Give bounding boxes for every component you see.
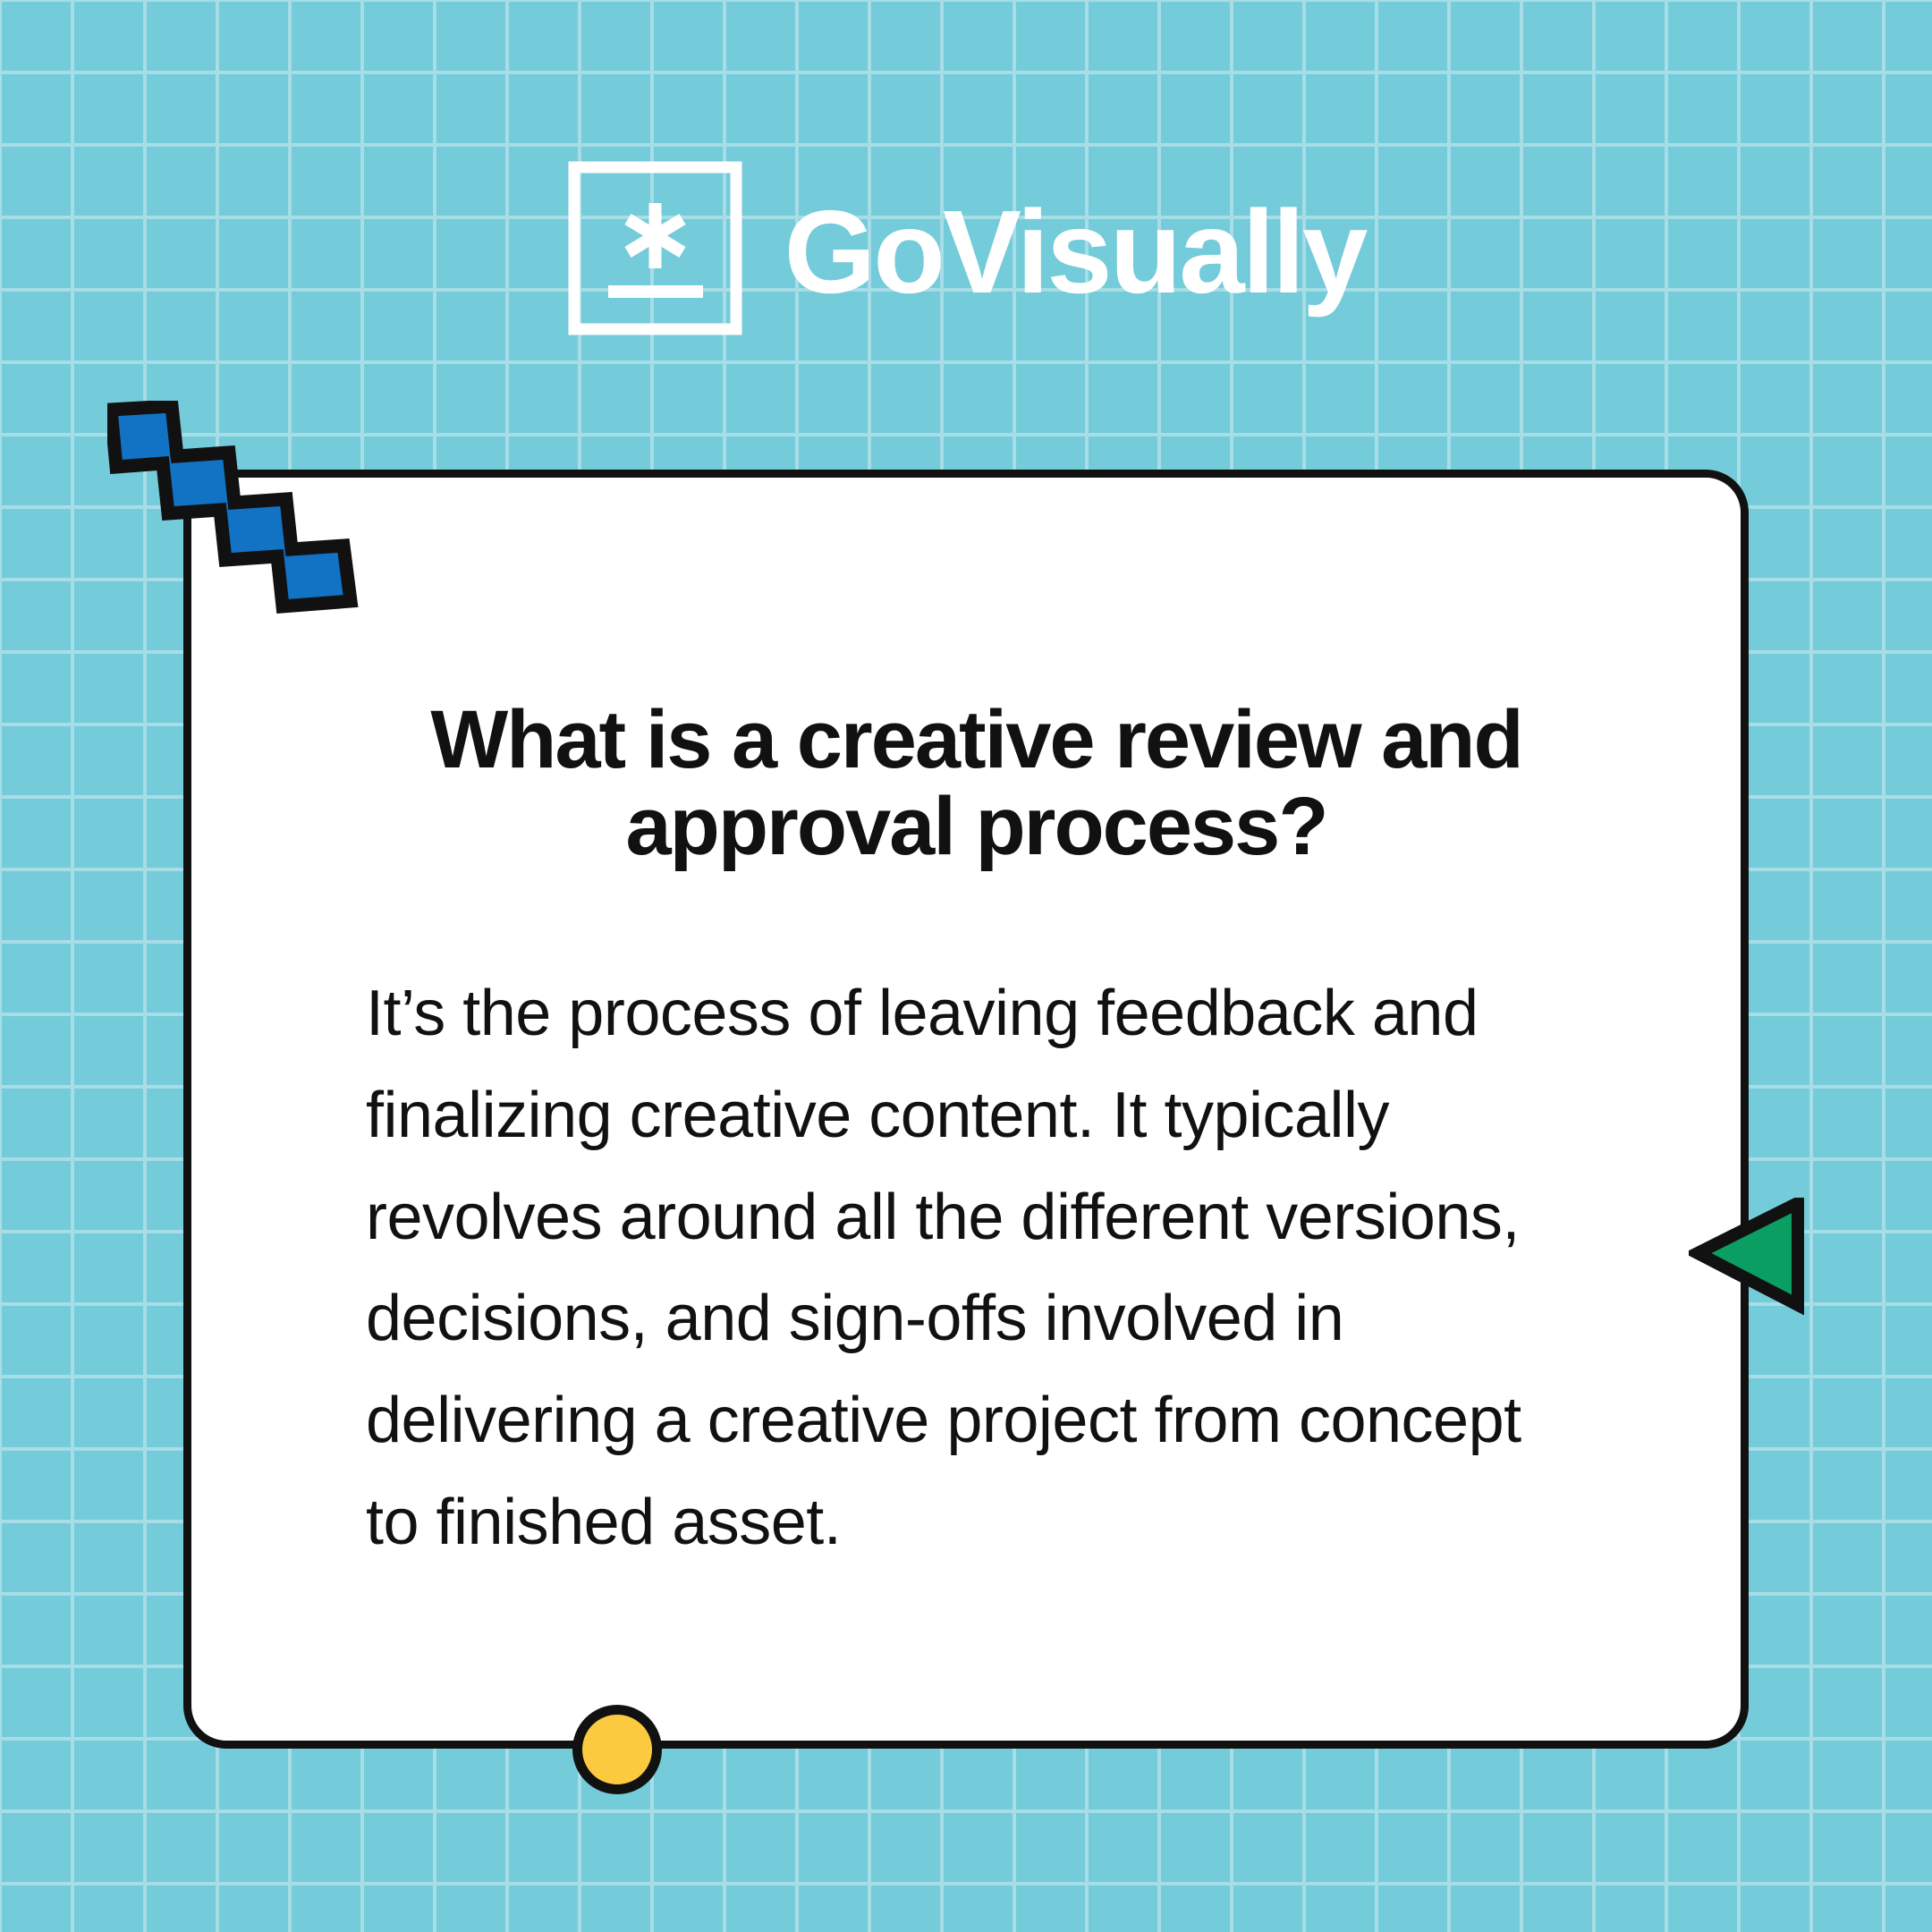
slide-canvas: GoVisually What is a creative review and… (0, 0, 1932, 1932)
brand-name: GoVisually (784, 193, 1366, 311)
asterisk-document-icon (567, 160, 743, 336)
body-paragraph: It’s the process of leaving feedback and… (366, 963, 1587, 1574)
content-card: What is a creative review and approval p… (183, 470, 1749, 1749)
brand-lockup: GoVisually (0, 152, 1932, 344)
yellow-dot (572, 1705, 662, 1794)
card-content: What is a creative review and approval p… (366, 697, 1587, 1574)
page-title: What is a creative review and approval p… (366, 697, 1587, 869)
